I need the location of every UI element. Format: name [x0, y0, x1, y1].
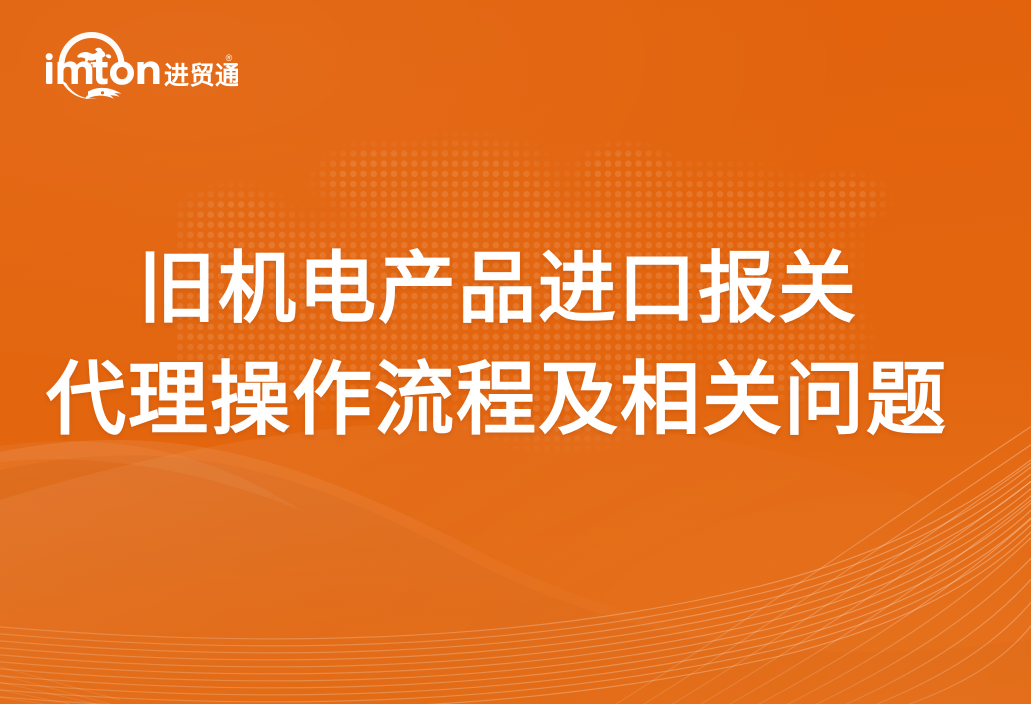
imton-logo[interactable]: 进贸通 ®: [38, 28, 238, 104]
poster-canvas: 进贸通 ® 旧机电产品进口报关 代理操作流程及相关问题: [0, 0, 1031, 704]
title-line-1: 旧机电产品进口报关: [0, 232, 1031, 344]
page-title: 旧机电产品进口报关 代理操作流程及相关问题: [0, 232, 1031, 456]
globe-arc-icon: [59, 32, 125, 65]
trademark-symbol: ®: [226, 53, 233, 63]
logo-wordmark-chinese: 进贸通: [164, 62, 238, 90]
title-line-2: 代理操作流程及相关问题: [0, 344, 1031, 456]
